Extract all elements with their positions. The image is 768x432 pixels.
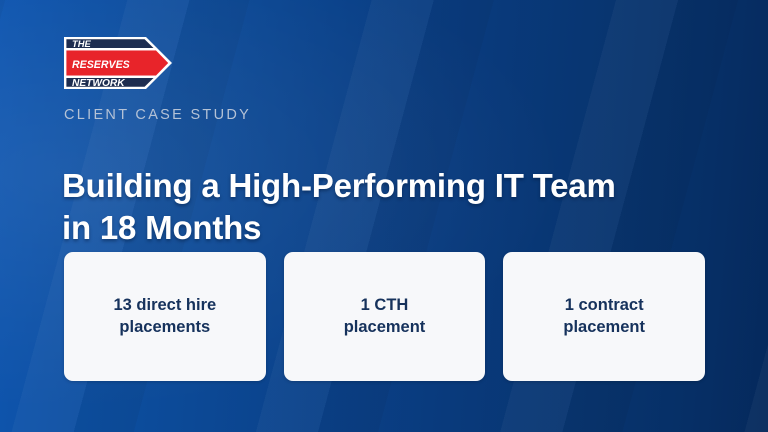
logo-line-3: NETWORK (72, 78, 125, 89)
logo-line-2: RESERVES (72, 59, 130, 71)
stat-card-text: 1 contract placement (549, 295, 659, 339)
stat-card-contract: 1 contract placement (503, 252, 705, 381)
stat-card-text: 13 direct hire placements (99, 295, 230, 339)
case-study-slide: THE RESERVES NETWORK CLIENT CASE STUDY B… (0, 0, 768, 432)
stat-card-row: 13 direct hire placements 1 CTH placemen… (64, 252, 705, 381)
stat-card-text: 1 CTH placement (330, 295, 440, 339)
logo-line-1: THE (72, 38, 91, 49)
page-title: Building a High-Performing IT Team in 18… (62, 165, 622, 249)
slide-content: THE RESERVES NETWORK CLIENT CASE STUDY B… (0, 0, 768, 432)
stat-card-cth: 1 CTH placement (284, 252, 486, 381)
eyebrow-label: CLIENT CASE STUDY (64, 107, 251, 123)
stat-card-direct-hire: 13 direct hire placements (64, 252, 266, 381)
the-reserves-network-logo: THE RESERVES NETWORK (64, 37, 172, 89)
